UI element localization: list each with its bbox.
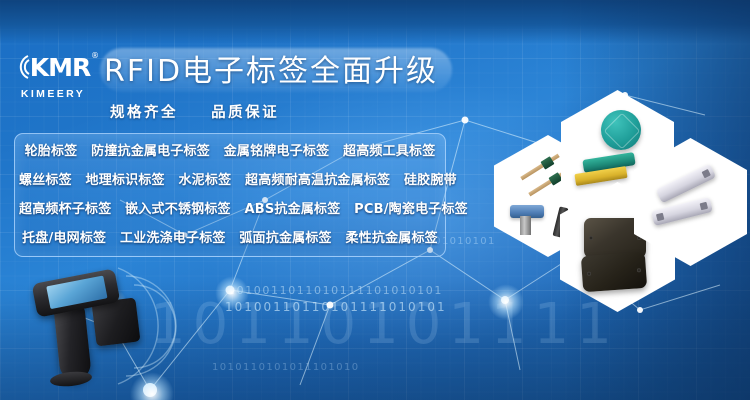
- product-list-row: 螺丝标签 地理标识标签 水泥标签 超高频耐高温抗金属标签 硅胶腕带: [19, 166, 441, 195]
- product-tag: 柔性抗金属标签: [345, 231, 437, 246]
- white-anti-metal-bar-icon: [651, 197, 713, 226]
- product-tag: 螺丝标签: [19, 173, 72, 188]
- product-tag: 工业洗涤电子标签: [120, 231, 226, 246]
- yellow-bar-tag-icon: [574, 166, 627, 186]
- teal-disc-tag-icon: [601, 110, 641, 150]
- subtitle-left: 规格齐全: [110, 105, 178, 121]
- brand-logo[interactable]: KMR ® KIMEERY: [10, 52, 96, 100]
- product-tag: 托盘/电网标签: [22, 231, 106, 246]
- product-list-row: 轮胎标签 防撞抗金属电子标签 金属铭牌电子标签 超高频工具标签: [19, 137, 441, 166]
- rfid-promotional-banner: 10110101111 1010011011010111101010101 10…: [0, 0, 750, 400]
- product-list-row: 超高频杯子标签 嵌入式不锈钢标签 ABS抗金属标签 PCB/陶瓷电子标签: [19, 195, 441, 224]
- page-title: RFID电子标签全面升级: [104, 46, 438, 90]
- product-tag: ABS抗金属标签: [244, 202, 340, 217]
- product-tag: PCB/陶瓷电子标签: [354, 202, 468, 217]
- headline-container: RFID电子标签全面升级: [100, 46, 460, 94]
- brand-name: KIMEERY: [10, 88, 96, 100]
- abs-anti-metal-tag-icon: [581, 252, 647, 292]
- product-tag: 轮胎标签: [25, 144, 78, 159]
- screw-body-icon: [520, 216, 531, 235]
- product-tag: 弧面抗金属标签: [239, 231, 331, 246]
- reader-grip-base: [49, 370, 92, 388]
- product-tag: 嵌入式不锈钢标签: [125, 202, 231, 217]
- product-tag: 超高频耐高温抗金属标签: [245, 173, 390, 188]
- kimeery-logo-icon: KMR ®: [10, 52, 96, 82]
- product-tag: 硅胶腕带: [404, 173, 457, 188]
- subtitle-right: 品质保证: [211, 105, 279, 121]
- product-tag: 地理标识标签: [86, 173, 165, 188]
- product-tag: 超高频工具标签: [343, 144, 435, 159]
- product-list-panel: 轮胎标签 防撞抗金属电子标签 金属铭牌电子标签 超高频工具标签 螺丝标签 地理标…: [14, 133, 446, 257]
- logo-arcs-icon: [16, 54, 30, 80]
- registered-trademark-icon: ®: [91, 52, 98, 60]
- logo-mark-text: KMR: [30, 55, 91, 80]
- product-tag: 金属铭牌电子标签: [224, 144, 330, 159]
- handheld-rfid-reader[interactable]: [28, 272, 148, 400]
- reader-display-screen: [46, 275, 107, 309]
- product-tag: 防撞抗金属电子标签: [91, 144, 210, 159]
- subtitle: 规格齐全 品质保证: [110, 101, 279, 122]
- product-tag: 水泥标签: [178, 173, 231, 188]
- product-list-row: 托盘/电网标签 工业洗涤电子标签 弧面抗金属标签 柔性抗金属标签: [19, 224, 441, 253]
- product-tag: 超高频杯子标签: [19, 202, 111, 217]
